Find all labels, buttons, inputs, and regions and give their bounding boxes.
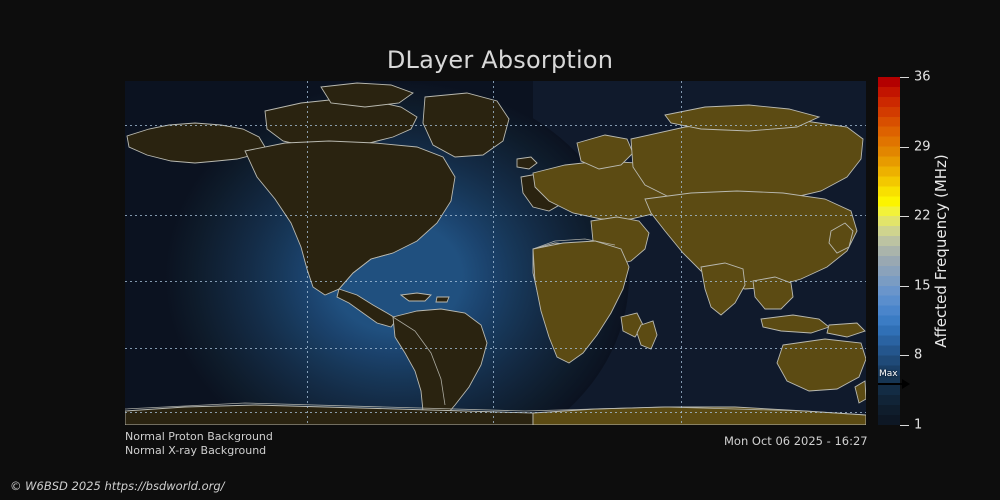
colorbar-tick-label: 1	[914, 418, 922, 433]
page-title: DLayer Absorption	[0, 46, 1000, 74]
colorbar-axis-label-text: Affected Frequency (MHz)	[932, 154, 950, 348]
colorbar-tick-mark	[900, 77, 909, 78]
max-marker: Max	[877, 369, 911, 393]
timestamp: Mon Oct 06 2025 - 16:27	[724, 434, 868, 448]
max-marker-label: Max	[879, 369, 898, 379]
colorbar-tick-label: 8	[914, 348, 922, 363]
credit-line: © W6BSD 2025 https://bsdworld.org/	[10, 479, 225, 493]
colorbar-tick-mark	[900, 216, 909, 217]
dlayer-absorption-screen: DLayer Absorption	[0, 0, 1000, 500]
xray-background-note: Normal X-ray Background	[125, 444, 266, 457]
colorbar-tick-mark	[900, 355, 909, 356]
colorbar-tick-mark	[900, 425, 909, 426]
colorbar-tick-mark	[900, 286, 909, 287]
world-map[interactable]	[125, 81, 866, 425]
proton-background-note: Normal Proton Background	[125, 430, 273, 443]
colorbar-axis-label: Affected Frequency (MHz)	[929, 77, 953, 425]
colorbar-tick-mark	[900, 147, 909, 148]
max-arrow-head-icon	[902, 379, 910, 389]
map-canvas	[125, 81, 866, 425]
max-arrow-shaft-icon	[878, 383, 904, 385]
